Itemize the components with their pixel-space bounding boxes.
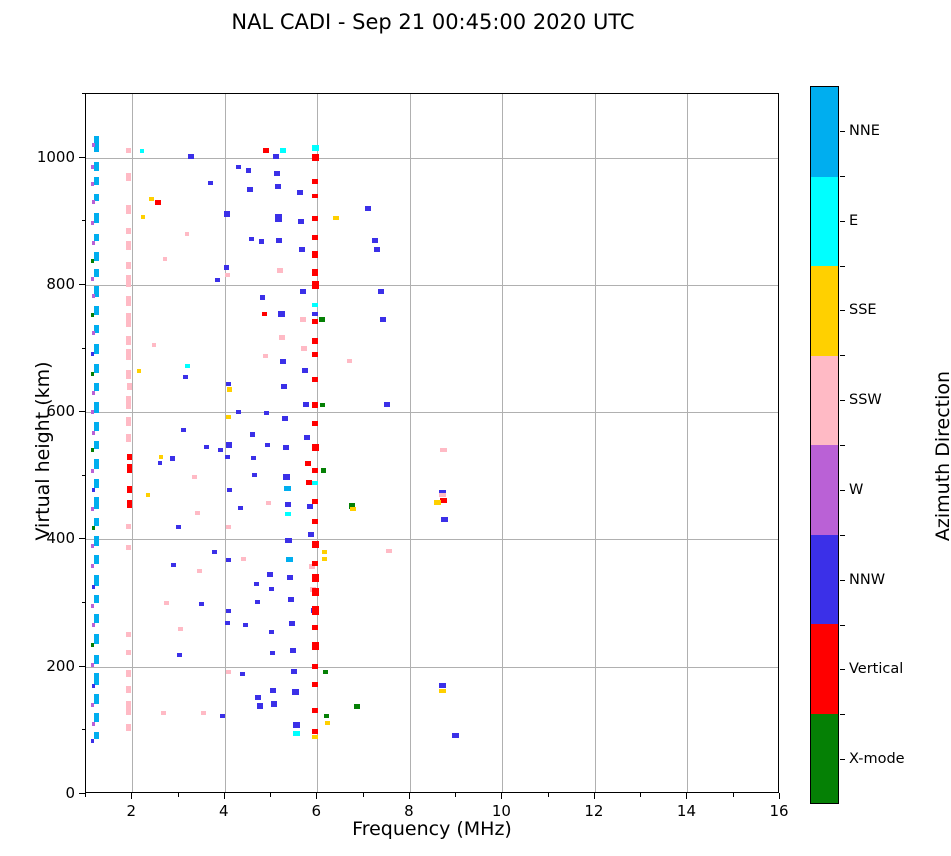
data-point [270, 688, 276, 693]
data-point [195, 511, 200, 515]
colorbar-label-nnw: NNW [849, 572, 885, 588]
data-point [91, 313, 94, 317]
ionogram-figure: NAL CADI - Sep 21 00:45:00 2020 UTC 2468… [0, 0, 951, 856]
colorbar-tick [840, 131, 845, 132]
data-point [92, 623, 95, 627]
data-point [304, 435, 310, 440]
data-point [312, 499, 318, 504]
data-point [126, 650, 131, 655]
plot-area[interactable] [85, 93, 779, 793]
data-point [126, 370, 131, 379]
data-point [277, 268, 283, 273]
data-point [312, 154, 319, 161]
colorbar-tick [840, 580, 845, 581]
data-point [241, 557, 246, 561]
data-point [94, 459, 99, 469]
data-point [226, 525, 231, 529]
data-point [126, 349, 131, 360]
data-point [384, 402, 390, 407]
y-tick-major [79, 666, 85, 667]
data-point [269, 630, 274, 634]
colorbar-boundary-tick [840, 176, 845, 177]
data-point [300, 289, 306, 294]
data-point [126, 701, 131, 715]
colorbar-label-vertical: Vertical [849, 661, 903, 677]
data-point [302, 368, 308, 373]
data-point [312, 145, 319, 151]
colorbar-segment-ssw[interactable] [811, 356, 838, 446]
data-point [263, 354, 268, 358]
data-point [152, 343, 156, 347]
x-tick-major [316, 793, 317, 799]
x-axis-label: Frequency (MHz) [85, 818, 779, 840]
data-point [312, 729, 318, 734]
data-point [126, 686, 131, 693]
gridline-horizontal [86, 412, 778, 413]
data-point [372, 238, 378, 243]
data-point [127, 486, 132, 493]
data-point [284, 486, 291, 491]
data-point [434, 500, 441, 505]
page-title: NAL CADI - Sep 21 00:45:00 2020 UTC [0, 10, 866, 34]
data-point [286, 557, 293, 562]
data-point [92, 526, 95, 530]
data-point [312, 319, 318, 324]
colorbar-tick [840, 310, 845, 311]
y-tick-major [79, 538, 85, 539]
colorbar-tick [840, 669, 845, 670]
data-point [127, 454, 132, 460]
data-point [255, 600, 260, 604]
data-point [225, 273, 230, 277]
data-point [275, 184, 281, 189]
x-tick-minor [178, 793, 179, 797]
data-point [224, 211, 230, 217]
data-point [126, 336, 131, 345]
data-point [227, 387, 232, 392]
data-point [225, 455, 230, 459]
data-point [298, 219, 304, 224]
colorbar-label-sse: SSE [849, 302, 877, 318]
data-point [243, 623, 248, 627]
colorbar-label-w: W [849, 482, 863, 498]
data-point [319, 317, 325, 322]
data-point [92, 200, 95, 204]
data-point [91, 410, 94, 414]
data-point [305, 461, 311, 466]
data-point [312, 269, 318, 276]
data-point [94, 555, 99, 564]
data-point [312, 468, 318, 473]
data-point [226, 558, 231, 562]
x-tick-minor [640, 793, 641, 797]
data-point [312, 352, 318, 357]
data-point [354, 704, 360, 709]
data-point [178, 627, 183, 631]
data-point [171, 563, 176, 567]
colorbar-segment-e[interactable] [811, 177, 838, 267]
colorbar-tick [840, 759, 845, 760]
data-point [91, 544, 94, 548]
data-point [92, 722, 95, 726]
data-point [312, 444, 319, 451]
data-point [293, 722, 300, 728]
data-point [94, 364, 99, 373]
data-point [374, 247, 380, 252]
data-point [279, 335, 285, 340]
data-point [285, 538, 292, 543]
data-point [290, 648, 296, 653]
gridline-vertical [595, 94, 596, 792]
data-point [94, 595, 99, 603]
data-point [439, 493, 446, 497]
data-point [91, 507, 94, 511]
data-point [91, 703, 94, 707]
data-point [188, 154, 194, 159]
data-point [350, 507, 356, 511]
colorbar-tick [840, 221, 845, 222]
data-point [149, 197, 154, 201]
data-point [126, 396, 131, 409]
data-point [312, 179, 318, 184]
data-point [275, 214, 282, 222]
data-point [312, 682, 318, 687]
data-point [386, 549, 392, 553]
y-tick-major [79, 793, 85, 794]
x-tick-major [594, 793, 595, 799]
data-point [312, 421, 318, 426]
data-point [226, 670, 231, 674]
data-point [127, 464, 132, 473]
data-point [312, 588, 319, 596]
colorbar-label-ssw: SSW [849, 392, 882, 408]
data-point [312, 519, 318, 524]
data-point [163, 257, 167, 261]
data-point [312, 481, 318, 485]
data-point [94, 655, 99, 664]
data-point [297, 190, 303, 195]
data-point [312, 312, 318, 316]
data-point [308, 532, 314, 537]
data-point [183, 375, 188, 379]
colorbar-segment-nnw[interactable] [811, 535, 838, 625]
x-tick-minor [270, 793, 271, 797]
data-point [323, 670, 328, 674]
x-tick-major [779, 793, 780, 799]
data-point [91, 259, 94, 263]
data-point [247, 187, 253, 192]
data-point [287, 575, 293, 580]
data-point [278, 311, 285, 317]
data-point [312, 606, 319, 615]
data-point [92, 331, 95, 335]
y-tick-minor [82, 729, 86, 730]
data-point [289, 621, 295, 626]
data-point [91, 643, 94, 647]
data-point [250, 432, 255, 437]
data-point [208, 181, 213, 185]
y-tick-label: 0 [0, 784, 75, 802]
y-tick-major [79, 411, 85, 412]
data-point [126, 545, 131, 550]
data-point [164, 601, 169, 605]
x-tick-major [686, 793, 687, 799]
data-point [91, 221, 94, 225]
data-point [273, 154, 279, 159]
data-point [94, 402, 99, 413]
data-point [226, 609, 231, 613]
data-point [92, 143, 95, 147]
data-point [126, 228, 131, 234]
gridline-horizontal [86, 285, 778, 286]
data-point [246, 168, 251, 173]
data-point [283, 445, 289, 450]
data-point [92, 431, 95, 435]
y-axis-label: Virtual height (km) [32, 291, 54, 611]
data-point [201, 711, 206, 715]
data-point [126, 296, 131, 306]
data-point [91, 352, 94, 356]
data-point [265, 443, 270, 447]
data-point [236, 165, 241, 169]
data-point [282, 416, 288, 421]
data-point [92, 684, 95, 688]
data-point [251, 456, 256, 460]
colorbar-boundary-tick [840, 714, 845, 715]
x-tick-major [131, 793, 132, 799]
data-point [192, 475, 197, 479]
data-point [288, 597, 294, 602]
data-point [262, 312, 267, 316]
data-point [126, 262, 131, 269]
data-point [181, 428, 186, 432]
colorbar-segment-nne[interactable] [811, 87, 838, 177]
data-point [227, 488, 232, 492]
data-point [91, 165, 94, 169]
data-point [126, 524, 131, 529]
colorbar[interactable] [810, 86, 839, 804]
x-tick-minor [363, 793, 364, 797]
data-point [238, 506, 243, 510]
data-point [126, 434, 131, 442]
data-point [320, 403, 325, 407]
data-point [312, 377, 318, 382]
data-point [218, 448, 223, 452]
colorbar-title: Azimuth Direction [932, 296, 951, 616]
data-point [94, 614, 99, 623]
data-point [440, 448, 447, 452]
data-point [91, 448, 94, 452]
colorbar-segment-w[interactable] [811, 445, 838, 535]
data-point [91, 564, 94, 568]
data-point [266, 501, 271, 505]
data-point [312, 541, 319, 548]
data-point [92, 585, 95, 589]
y-tick-major [79, 284, 85, 285]
data-point [126, 241, 131, 250]
data-point [293, 731, 300, 736]
data-point [257, 703, 263, 709]
data-point [236, 410, 241, 414]
data-point [199, 602, 204, 606]
colorbar-segment-vertical[interactable] [811, 624, 838, 714]
data-point [158, 461, 162, 465]
data-point [94, 713, 99, 722]
data-point [285, 512, 291, 516]
data-point [322, 550, 327, 554]
data-point [91, 277, 94, 281]
data-point [91, 469, 94, 473]
data-point [312, 664, 318, 669]
colorbar-segment-x-mode[interactable] [811, 714, 838, 804]
data-point [185, 364, 190, 368]
y-tick-minor [82, 602, 86, 603]
x-tick-major [501, 793, 502, 799]
data-point [127, 383, 132, 390]
colorbar-tick [840, 490, 845, 491]
colorbar-segment-sse[interactable] [811, 266, 838, 356]
colorbar-label-nne: NNE [849, 123, 880, 139]
data-point [159, 455, 163, 459]
data-point [333, 216, 339, 220]
data-point [307, 504, 313, 509]
data-point [303, 402, 309, 407]
data-point [94, 383, 99, 391]
data-point [312, 251, 318, 258]
data-point [312, 235, 318, 240]
y-tick-minor [82, 475, 86, 476]
data-point [94, 422, 99, 431]
data-point [127, 500, 132, 508]
y-tick-minor [82, 93, 86, 94]
data-point [177, 653, 182, 657]
y-tick-major [79, 157, 85, 158]
data-point [312, 561, 318, 566]
x-tick-minor [733, 793, 734, 797]
data-point [226, 415, 231, 419]
colorbar-label-x-mode: X-mode [849, 751, 905, 767]
data-point [269, 587, 274, 591]
data-point [347, 359, 352, 363]
data-point [140, 149, 144, 153]
data-point [94, 694, 99, 704]
data-point [94, 518, 99, 526]
data-point [255, 695, 261, 700]
data-point [91, 604, 94, 608]
data-point [197, 569, 202, 573]
data-point [204, 445, 209, 449]
gridline-vertical [132, 94, 133, 792]
data-point [312, 194, 318, 198]
data-point [254, 582, 259, 586]
data-point [283, 474, 290, 480]
data-point [259, 239, 264, 244]
data-point [126, 205, 131, 214]
data-point [92, 391, 95, 395]
data-point [126, 632, 131, 637]
x-tick-major [409, 793, 410, 799]
data-point [301, 346, 307, 351]
data-point [380, 317, 386, 322]
data-point [249, 237, 254, 241]
data-point [226, 382, 231, 386]
data-point [271, 701, 277, 707]
data-point [280, 148, 286, 153]
colorbar-boundary-tick [840, 355, 845, 356]
data-point [170, 456, 175, 461]
data-point [300, 317, 306, 322]
data-point [126, 148, 131, 153]
data-point [94, 213, 99, 223]
data-point [299, 247, 305, 252]
data-point [141, 215, 145, 219]
data-point [378, 289, 384, 294]
data-point [439, 683, 446, 688]
data-point [126, 670, 131, 677]
colorbar-boundary-tick [840, 535, 845, 536]
data-point [281, 384, 287, 389]
data-point [291, 669, 297, 674]
x-tick-minor [85, 793, 86, 797]
data-point [220, 714, 225, 718]
data-point [94, 177, 99, 185]
gridline-horizontal [86, 539, 778, 540]
data-point [312, 642, 319, 650]
data-point [94, 306, 99, 315]
data-point [312, 216, 318, 221]
data-point [94, 479, 99, 488]
colorbar-tick [840, 400, 845, 401]
data-point [226, 442, 232, 448]
gridline-vertical [687, 94, 688, 792]
data-point [126, 417, 131, 426]
x-tick-major [224, 793, 225, 799]
data-point [215, 278, 220, 282]
data-point [94, 497, 99, 509]
data-point [365, 206, 371, 211]
gridline-horizontal [86, 667, 778, 668]
data-point [312, 338, 318, 344]
colorbar-boundary-tick [840, 266, 845, 267]
data-point [276, 238, 282, 243]
data-point [91, 739, 94, 743]
colorbar-boundary-tick [840, 445, 845, 446]
data-point [312, 574, 319, 582]
data-point [441, 517, 448, 522]
data-point [321, 468, 326, 473]
data-point [92, 241, 95, 245]
data-point [137, 369, 141, 373]
data-point [155, 200, 161, 205]
data-point [91, 372, 94, 376]
data-point [306, 480, 312, 485]
y-tick-label: 200 [0, 657, 75, 675]
data-point [185, 232, 189, 236]
data-point [274, 171, 280, 176]
data-point [224, 265, 229, 270]
data-point [264, 411, 269, 415]
colorbar-boundary-tick [840, 625, 845, 626]
data-point [92, 294, 95, 298]
data-point [91, 663, 94, 667]
data-point [263, 148, 269, 153]
y-tick-label: 1000 [0, 148, 75, 166]
data-point [312, 303, 318, 307]
data-point [94, 269, 99, 277]
data-point [292, 689, 299, 695]
colorbar-label-e: E [849, 213, 858, 229]
data-point [176, 525, 181, 529]
